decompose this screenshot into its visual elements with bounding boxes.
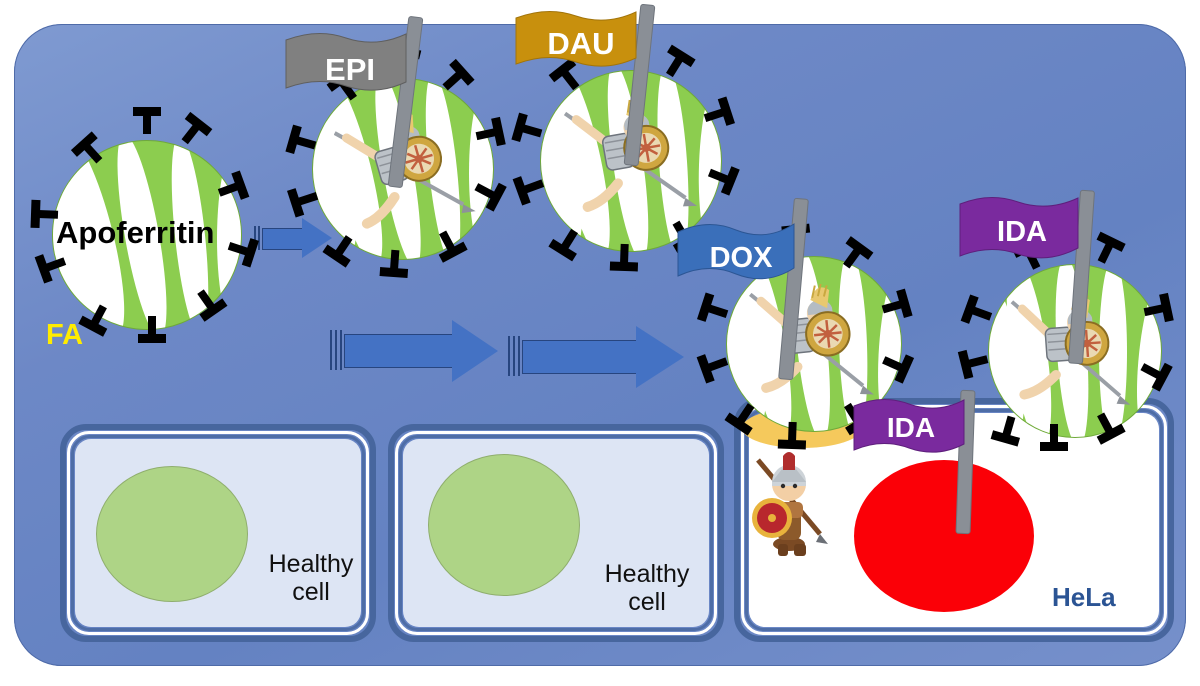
cell-label: Healthy cell xyxy=(256,550,366,606)
flag-label-ida-released: IDA xyxy=(868,412,954,444)
flag-ida: IDA xyxy=(958,190,1108,300)
cell-healthy-2: Healthy cell xyxy=(388,424,724,642)
flag-dau: DAU xyxy=(514,4,664,114)
flag-ida-released: IDA xyxy=(852,390,992,540)
roman-soldier-icon xyxy=(750,448,828,560)
cell-label-line2: cell xyxy=(256,578,366,606)
flag-label-ida: IDA xyxy=(978,216,1066,249)
flag-dox: DOX xyxy=(676,198,826,308)
apoferritin-label: Apoferritin xyxy=(56,215,214,251)
flag-epi: EPI xyxy=(284,16,434,126)
figure-canvas: Healthy cell Healthy cell HeLa xyxy=(0,0,1200,686)
cell-label-line1: Healthy xyxy=(256,550,366,578)
fa-label: FA xyxy=(46,319,83,352)
cell-label: Healthy cell xyxy=(588,560,706,616)
flag-label-epi: EPI xyxy=(310,52,390,88)
nucleus xyxy=(428,454,580,596)
nucleus xyxy=(96,466,248,602)
cell-label-line2: cell xyxy=(588,588,706,616)
arrow-long xyxy=(508,326,698,388)
arrow-mid xyxy=(330,320,510,382)
hela-label: HeLa xyxy=(1052,582,1116,613)
flag-label-dau: DAU xyxy=(534,26,628,62)
flag-label-dox: DOX xyxy=(698,242,784,275)
cell-healthy-1: Healthy cell xyxy=(60,424,376,642)
cell-label-line1: Healthy xyxy=(588,560,706,588)
